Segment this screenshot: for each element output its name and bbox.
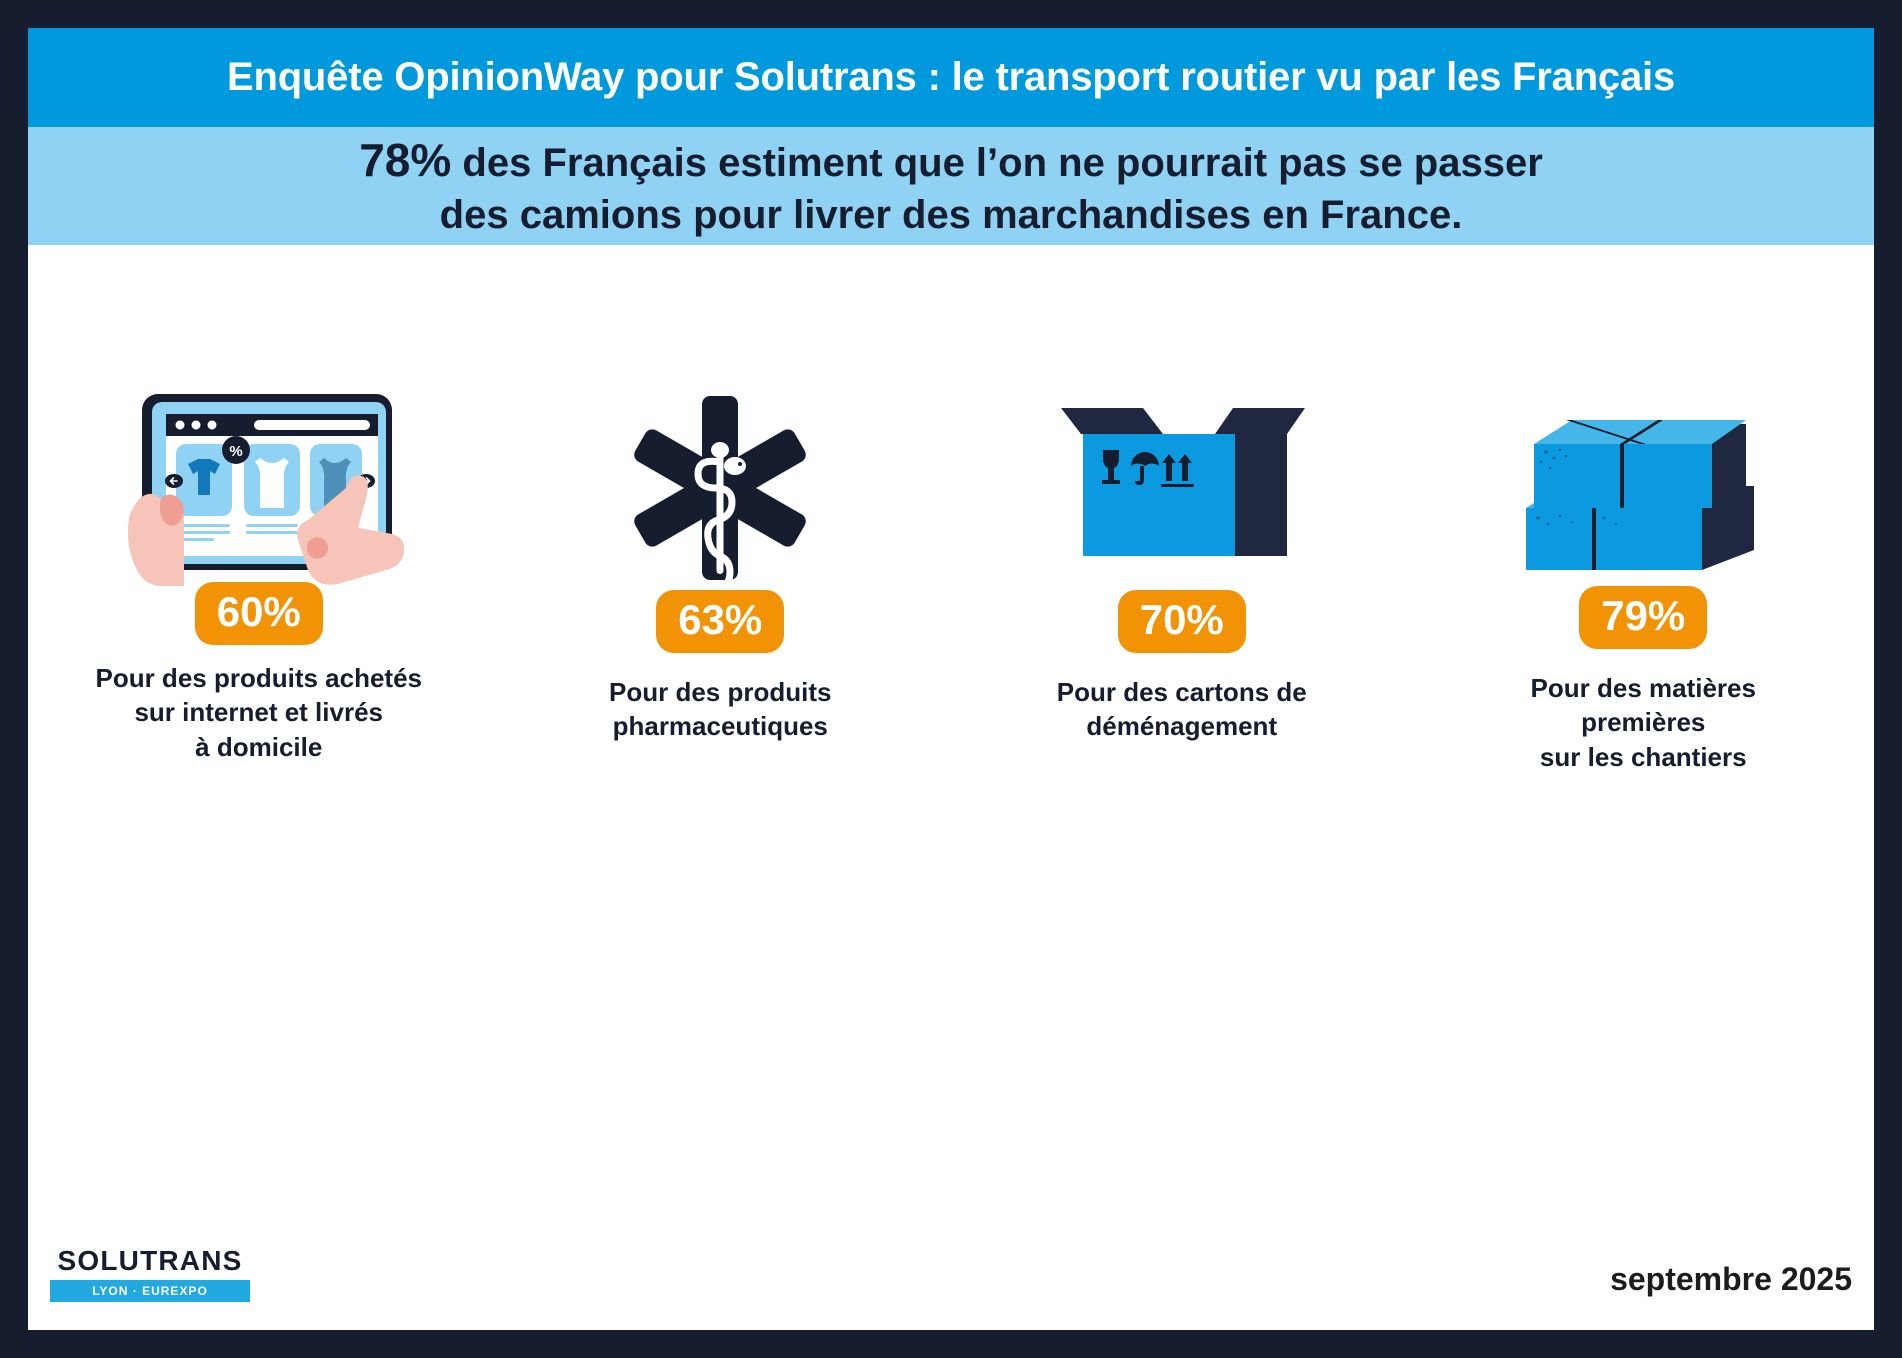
- stat-label: Pour des produits achetés sur internet e…: [95, 661, 422, 764]
- stat-badge-percent: 70%: [1118, 590, 1246, 653]
- subtitle-line-1: 78% des Français estiment que l’on ne po…: [359, 131, 1543, 190]
- stat-badge-percent: 60%: [195, 582, 323, 645]
- svg-text:%: %: [229, 443, 242, 460]
- stat-badge-percent: 63%: [656, 590, 784, 653]
- tablet-shopping-icon: %: [114, 388, 404, 588]
- stacked-bricks-icon: [1508, 388, 1778, 588]
- subtitle-line-2: des camions pour livrer des marchandises…: [440, 190, 1463, 241]
- logo-band: LYON · EUREXPO: [50, 1280, 250, 1302]
- stat-column-pharmaceuticals: 63% Pour des produits pharmaceutiques: [490, 388, 952, 744]
- stats-row: %: [28, 388, 1874, 774]
- stat-column-raw-materials: 79% Pour des matières premières sur les …: [1413, 388, 1875, 774]
- stat-column-moving-boxes: 70% Pour des cartons de déménagement: [951, 388, 1413, 744]
- poster-frame: Enquête OpinionWay pour Solutrans : le t…: [0, 0, 1902, 1358]
- footer: SOLUTRANS LYON · EUREXPO septembre 2025: [28, 1210, 1874, 1330]
- subtitle-banner: 78% des Français estiment que l’on ne po…: [28, 127, 1874, 245]
- stat-badge-percent: 79%: [1579, 586, 1707, 649]
- poster-canvas: Enquête OpinionWay pour Solutrans : le t…: [28, 28, 1874, 1330]
- page-title: Enquête OpinionWay pour Solutrans : le t…: [227, 55, 1675, 100]
- header-banner: Enquête OpinionWay pour Solutrans : le t…: [28, 28, 1874, 127]
- star-of-life-icon: [605, 388, 835, 588]
- solutrans-logo: SOLUTRANS LYON · EUREXPO: [50, 1247, 250, 1302]
- stat-label: Pour des cartons de déménagement: [1057, 675, 1307, 744]
- stat-column-online-purchases: %: [28, 388, 490, 764]
- logo-wordmark: SOLUTRANS: [50, 1247, 250, 1275]
- publication-date: septembre 2025: [1610, 1261, 1852, 1298]
- subtitle-highlight-percent: 78%: [359, 134, 451, 186]
- logo-subtitle: LYON · EUREXPO: [92, 1284, 208, 1298]
- subtitle-line-1-rest: des Français estiment que l’on ne pourra…: [451, 141, 1542, 185]
- open-cardboard-box-icon: [1047, 388, 1317, 588]
- stat-label: Pour des produits pharmaceutiques: [609, 675, 831, 744]
- stat-label: Pour des matières premières sur les chan…: [1531, 671, 1756, 774]
